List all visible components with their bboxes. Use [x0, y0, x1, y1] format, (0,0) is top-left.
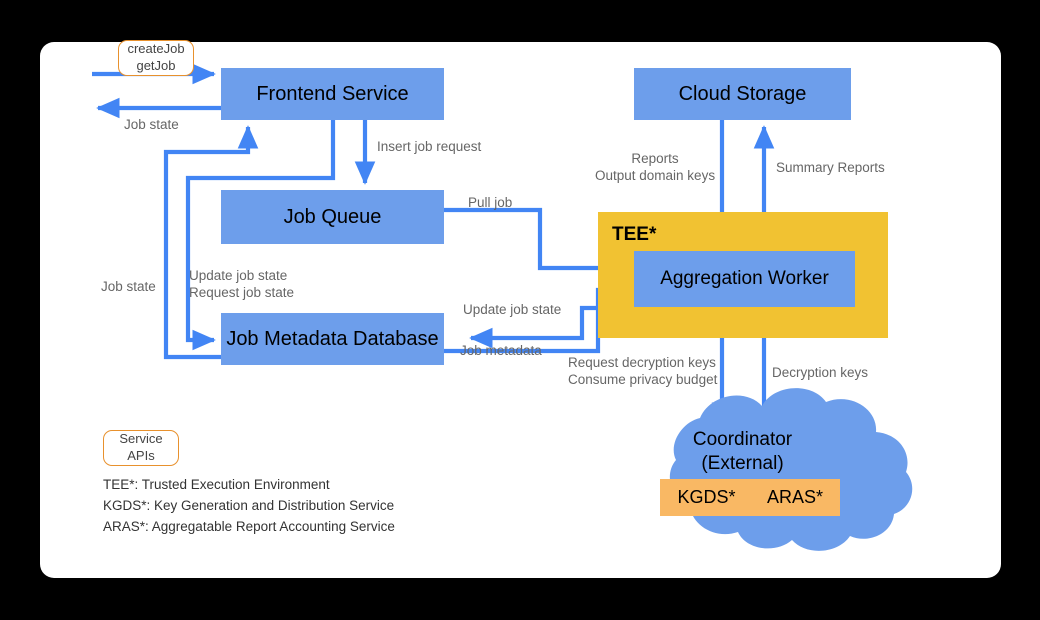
node-coordinator[interactable]: Coordinator (External) [640, 428, 845, 476]
callout-line-createjob: createJob [127, 41, 184, 58]
edge-label-request-decryption-keys: Request decryption keys Consume privacy … [568, 355, 717, 389]
edge-label-update-request-job-state: Update job state Request job state [189, 268, 294, 302]
node-cloud-storage[interactable]: Cloud Storage [634, 68, 851, 120]
edge-label-insert-job-request: Insert job request [377, 139, 481, 156]
diagram-stage: Frontend Service Job Queue Job Metadata … [0, 0, 1040, 620]
edge-label-pull-job: Pull job [468, 195, 512, 212]
node-aggregation-worker[interactable]: Aggregation Worker [634, 251, 855, 307]
node-kgds-label: KGDS* [677, 487, 735, 508]
node-job-queue-label: Job Queue [284, 206, 382, 229]
node-aras-label: ARAS* [767, 487, 823, 508]
edge-label-job-state-top: Job state [124, 117, 179, 134]
node-coordinator-label-line2: (External) [640, 452, 845, 476]
legend-service-apis-line1: Service [119, 431, 162, 448]
node-coordinator-label-line1: Coordinator [640, 428, 845, 452]
edge-label-reports-output-domain-keys: Reports Output domain keys [595, 151, 715, 185]
legend-service-apis-badge: Service APIs [103, 430, 179, 466]
node-aras[interactable]: ARAS* [750, 479, 840, 516]
edge-label-summary-reports: Summary Reports [776, 160, 885, 177]
node-tee-label: TEE* [612, 224, 656, 246]
node-job-metadata-database-label: Job Metadata Database [226, 328, 438, 351]
node-cloud-storage-label: Cloud Storage [679, 83, 807, 106]
edge-label-decryption-keys: Decryption keys [772, 365, 868, 382]
callout-line-getjob: getJob [136, 58, 175, 75]
edge-label-job-state-left: Job state [101, 279, 156, 296]
node-frontend-service[interactable]: Frontend Service [221, 68, 444, 120]
legend-service-apis-line2: APIs [127, 448, 154, 465]
legend-abbreviation-definitions: TEE*: Trusted Execution Environment KGDS… [103, 475, 395, 538]
node-aggregation-worker-label: Aggregation Worker [660, 268, 829, 290]
edge-label-update-job-state-right: Update job state [463, 302, 561, 319]
node-frontend-service-label: Frontend Service [256, 83, 408, 106]
node-job-queue[interactable]: Job Queue [221, 190, 444, 244]
node-kgds[interactable]: KGDS* [660, 479, 753, 516]
node-job-metadata-database[interactable]: Job Metadata Database [221, 313, 444, 365]
callout-service-api-createjob-getjob[interactable]: createJob getJob [118, 40, 194, 76]
edge-label-job-metadata: Job metadata [460, 343, 542, 360]
